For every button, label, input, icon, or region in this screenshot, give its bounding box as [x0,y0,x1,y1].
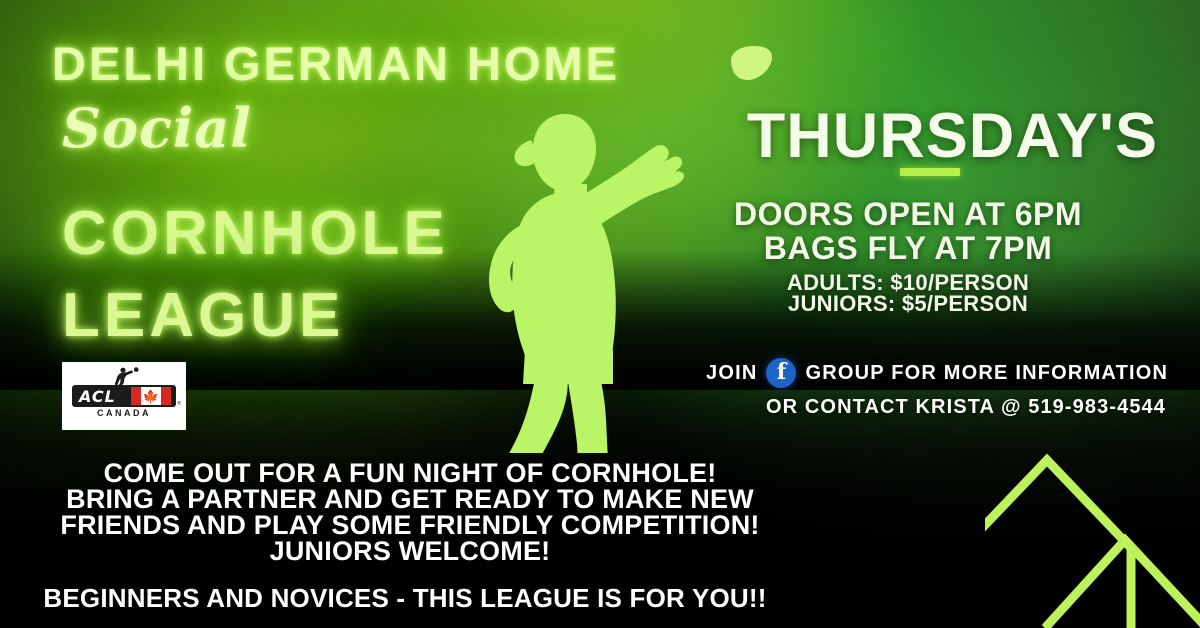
cornhole-league-poster: DELHI GERMAN HOME Social CORNHOLE LEAGUE… [0,0,1200,628]
join-prefix-label: JOIN [706,362,757,385]
price-juniors: JUNIORS: $5/PERSON [678,291,1138,317]
event-day: THURSDAY'S [747,100,1158,172]
league-title-line-1: CORNHOLE [62,198,449,269]
venue-title: DELHI GERMAN HOME [52,36,620,91]
day-underline-rule [900,168,960,176]
trademark-symbol: ® [177,401,181,407]
contact-phone-line: OR CONTACT KRISTA @ 519-983-4544 [766,396,1166,419]
canadian-flag-icon: 🍁 [131,387,171,405]
chevron-decoration [985,428,1200,628]
acl-wordmark: ACL [72,387,116,406]
thrower-icon [114,367,140,387]
league-title-line-2: LEAGUE [62,280,344,351]
facebook-glyph: f [777,361,786,383]
cornhole-player-silhouette [415,88,715,453]
doors-open-time: DOORS OPEN AT 6PM [678,196,1138,233]
facebook-join-row[interactable]: JOIN f GROUP FOR MORE INFORMATION [706,358,1168,388]
acl-country-label: CANADA [68,408,180,418]
tagline: BEGINNERS AND NOVICES - THIS LEAGUE IS F… [0,583,810,614]
acl-canada-logo: ACL 🍁 CANADA ® [62,362,186,430]
join-suffix-label: GROUP FOR MORE INFORMATION [805,362,1168,385]
acl-wordmark-bar: ACL 🍁 [72,385,176,407]
blurb-line-4: JUNIORS WELCOME! [0,536,820,567]
bags-fly-time: BAGS FLY AT 7PM [678,230,1138,267]
social-script-word: Social [62,96,252,160]
maple-leaf-icon: 🍁 [143,390,159,403]
facebook-icon[interactable]: f [766,358,796,388]
cornhole-bag-icon [726,44,778,82]
